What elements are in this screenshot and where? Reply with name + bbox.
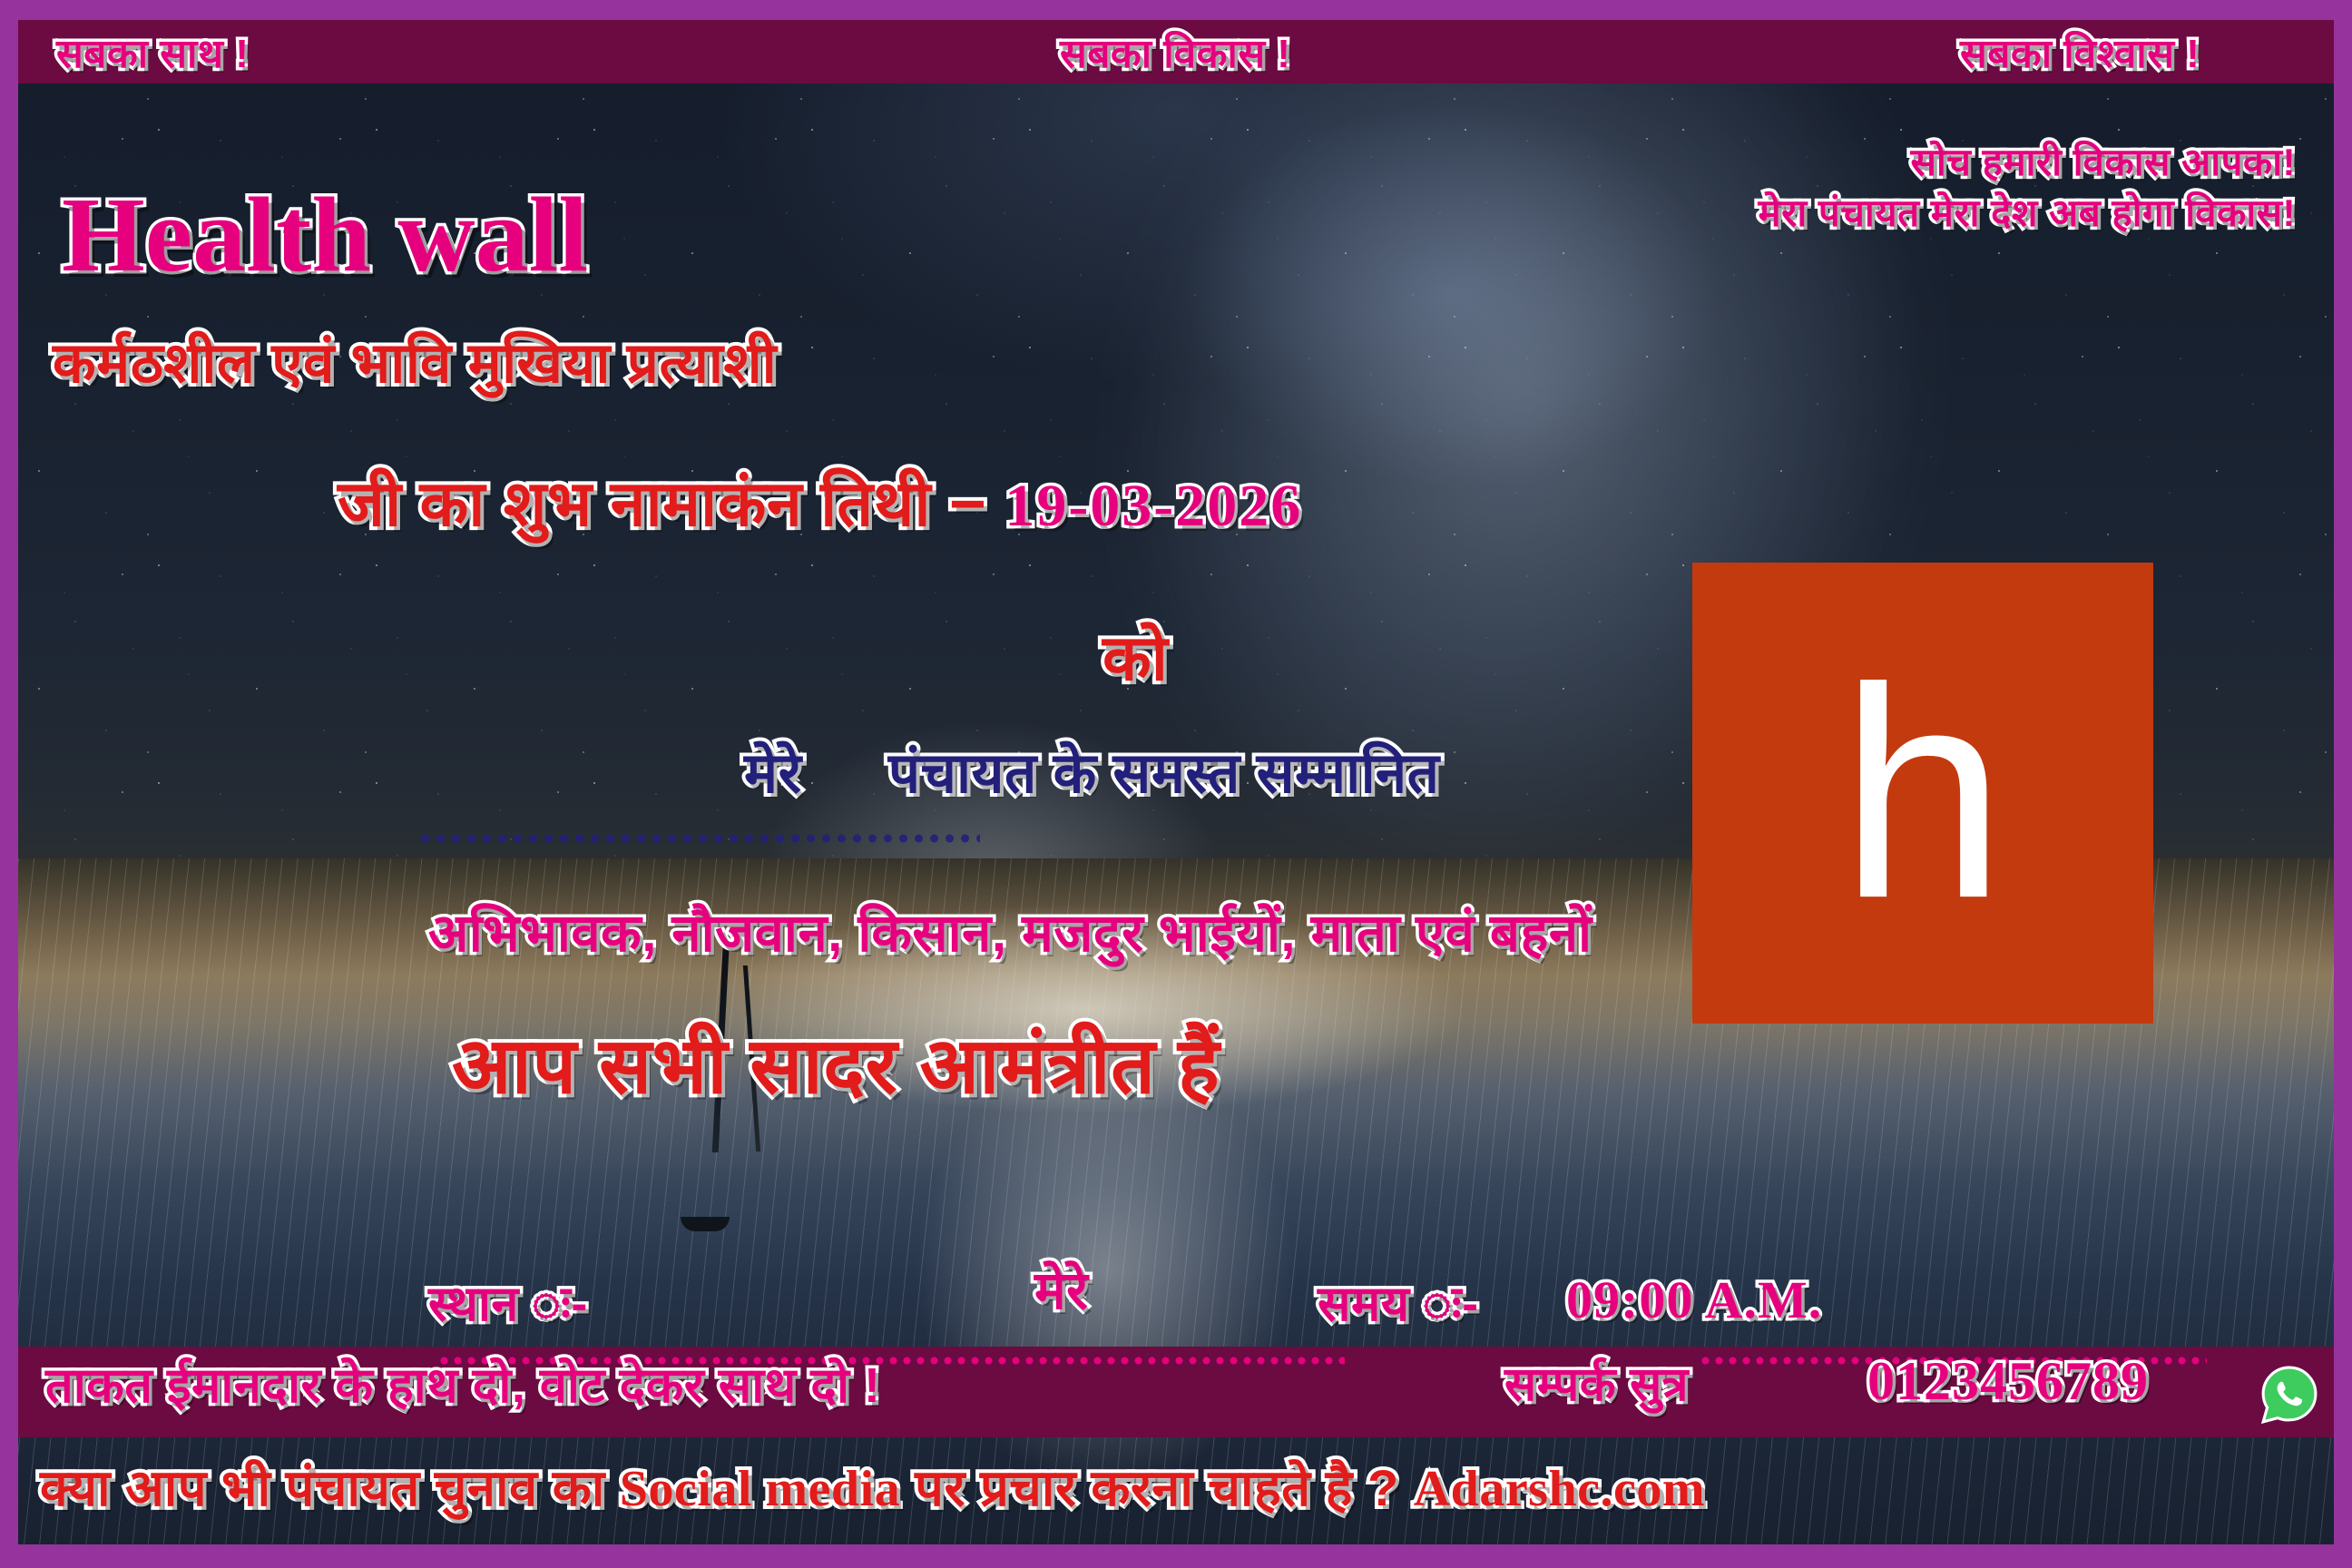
contact-number[interactable]: 0123456789 [1867, 1354, 2149, 1408]
tagline-line-1: सोच हमारी विकास आपका! [1911, 143, 2296, 181]
logo-letter-h: h [1692, 664, 2153, 922]
venue-label: स्थान ः- [428, 1279, 588, 1328]
poster-canvas: सबका साथ ! सबका विकास ! सबका विश्वास ! स… [18, 20, 2334, 1544]
bottom-slogan: ताकत ईमानदार के हाथ दो, वोट देकर साथ दो … [45, 1361, 880, 1410]
audience-prefix: मेरे [744, 742, 801, 805]
promo-social-media: Social media [620, 1461, 900, 1517]
slogan-sabka-saath: सबका साथ ! [56, 34, 249, 74]
audience-line-1: मेरे पंचायत के समस्त सम्मानित [744, 746, 1439, 802]
welcome-invitation-line: आप सभी सादर आमंत्रीत हैं [452, 1027, 1220, 1105]
nomination-date-line: जी का शुभ नामाकंन तिथी − 19-03-2026 [338, 472, 1302, 536]
logo-tile: h [1692, 563, 2153, 1024]
promo-hindi-after: पर प्रचार करना चाहते है ? [900, 1459, 1414, 1516]
whatsapp-icon[interactable] [2259, 1365, 2319, 1425]
candidate-subtitle: कर्मठशील एवं भावि मुखिया प्रत्याशी [53, 336, 777, 392]
brand-title: Health wall [62, 181, 588, 289]
audience-panchayat-text: पंचायत के समस्त सम्मानित [888, 742, 1440, 805]
footer-promo-line: क्या आप भी पंचायत चुनाव का Social media … [40, 1463, 1705, 1514]
tagline-line-2: मेरा पंचायत मेरा देश अब होगा विकास! [1759, 194, 2296, 232]
poster-root: सबका साथ ! सबका विकास ! सबका विश्वास ! स… [0, 0, 2352, 1568]
sailboat-hull [681, 1217, 730, 1231]
contact-label: सम्पर्क सुत्र [1504, 1361, 1689, 1408]
time-label: समय ः- [1318, 1279, 1479, 1328]
slogan-sabka-vishwas: सबका विश्वास ! [1960, 34, 2200, 74]
time-value: 09:00 A.M. [1566, 1274, 1822, 1327]
nomination-date-value: 19-03-2026 [1004, 473, 1302, 539]
connector-ko: को [1102, 626, 1168, 690]
nomination-date-label: जी का शुभ नामाकंन तिथी − [338, 468, 986, 539]
promo-hindi-before: क्या आप भी पंचायत चुनाव का [40, 1459, 620, 1516]
slogan-sabka-vikas: सबका विकास ! [1060, 34, 1290, 74]
audience-dotted-rule [417, 833, 980, 844]
venue-value: मेरे [1034, 1265, 1088, 1318]
promo-website[interactable]: Adarshc.com [1414, 1461, 1705, 1517]
audience-line-2: अभिभावक, नौजवान, किसान, मजदुर भाईयों, मा… [428, 907, 1592, 960]
